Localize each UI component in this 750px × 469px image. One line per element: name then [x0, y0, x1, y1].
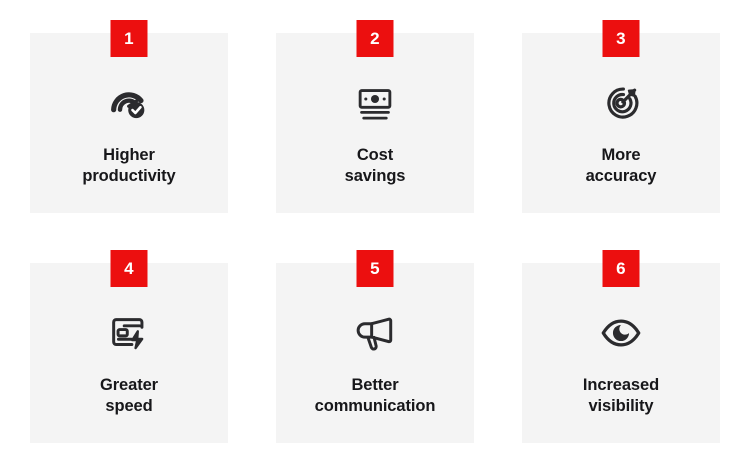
benefit-card-1[interactable]: 1 Higher productivity [30, 33, 228, 213]
panel-lightning-icon [103, 309, 155, 357]
target-dart-icon [595, 79, 647, 127]
benefit-card-2[interactable]: 2 Cost savings [276, 33, 474, 213]
eye-icon [595, 309, 647, 357]
money-stack-icon [349, 79, 401, 127]
card-label-2: Cost savings [276, 145, 474, 187]
benefits-grid: 1 Higher productivity 2 Cost savin [0, 0, 750, 469]
card-label-1: Higher productivity [30, 145, 228, 187]
badge-number-2: 2 [357, 20, 394, 57]
badge-number-3: 3 [603, 20, 640, 57]
benefit-card-4[interactable]: 4 Greater speed [30, 263, 228, 443]
badge-number-4: 4 [111, 250, 148, 287]
card-label-3: More accuracy [522, 145, 720, 187]
card-label-6: Increased visibility [522, 375, 720, 417]
benefit-card-3[interactable]: 3 More accuracy [522, 33, 720, 213]
benefit-card-6[interactable]: 6 Increased visibility [522, 263, 720, 443]
card-label-4: Greater speed [30, 375, 228, 417]
benefit-card-5[interactable]: 5 Better communication [276, 263, 474, 443]
megaphone-icon [349, 309, 401, 357]
card-label-5: Better communication [276, 375, 474, 417]
badge-number-5: 5 [357, 250, 394, 287]
badge-number-6: 6 [603, 250, 640, 287]
badge-number-1: 1 [111, 20, 148, 57]
gauge-check-icon [103, 79, 155, 127]
